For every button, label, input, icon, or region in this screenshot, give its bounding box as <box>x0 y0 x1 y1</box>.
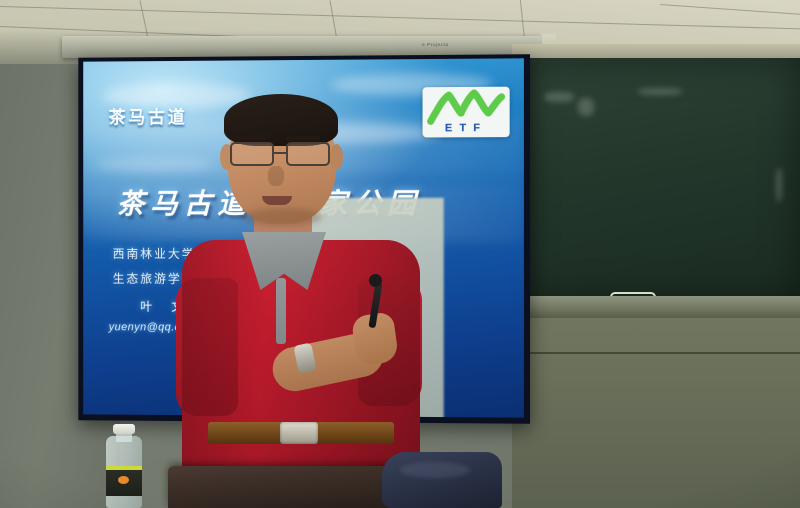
eyeglass-bridge <box>274 152 288 154</box>
eyeglass-lens-right <box>286 142 330 166</box>
eyeglasses-icon <box>228 142 336 168</box>
housing-brand-label: e Projecta <box>422 42 449 47</box>
ceiling-tile-line <box>660 4 800 15</box>
belt-buckle <box>280 422 318 444</box>
eyebrow-left <box>232 136 266 141</box>
water-bottle <box>106 424 142 508</box>
microphone-head <box>369 274 382 287</box>
chalk-smudge <box>638 88 682 95</box>
presenter <box>176 82 426 508</box>
bottle-label-stripe <box>106 466 142 470</box>
bottle-cap <box>113 424 135 434</box>
slide-logo: ETF <box>423 87 510 138</box>
chalk-tray <box>512 296 800 318</box>
chalk-smudge <box>544 92 574 102</box>
bottle-label-emblem <box>118 476 129 484</box>
lower-wall-panel <box>512 318 800 508</box>
chalk-smudge <box>578 98 594 116</box>
slide-logo-letters: ETF <box>423 122 510 134</box>
mouth <box>262 196 292 205</box>
eyebrow-right <box>286 136 320 141</box>
panel-seam <box>512 352 800 354</box>
bag-highlight <box>400 462 470 478</box>
chalk-smudge <box>776 168 782 202</box>
classroom-photo: e Projecta 茶马古道 茶马古道—国家公园 西南林业大学 生态旅游学院 … <box>0 0 800 508</box>
shirt-placket <box>276 278 286 344</box>
chalkboard <box>518 58 800 302</box>
eyeglass-lens-left <box>230 142 274 166</box>
nose <box>268 166 284 186</box>
chin-shadow <box>242 208 322 226</box>
bag <box>382 452 502 508</box>
ceiling-tile-line <box>0 6 800 30</box>
